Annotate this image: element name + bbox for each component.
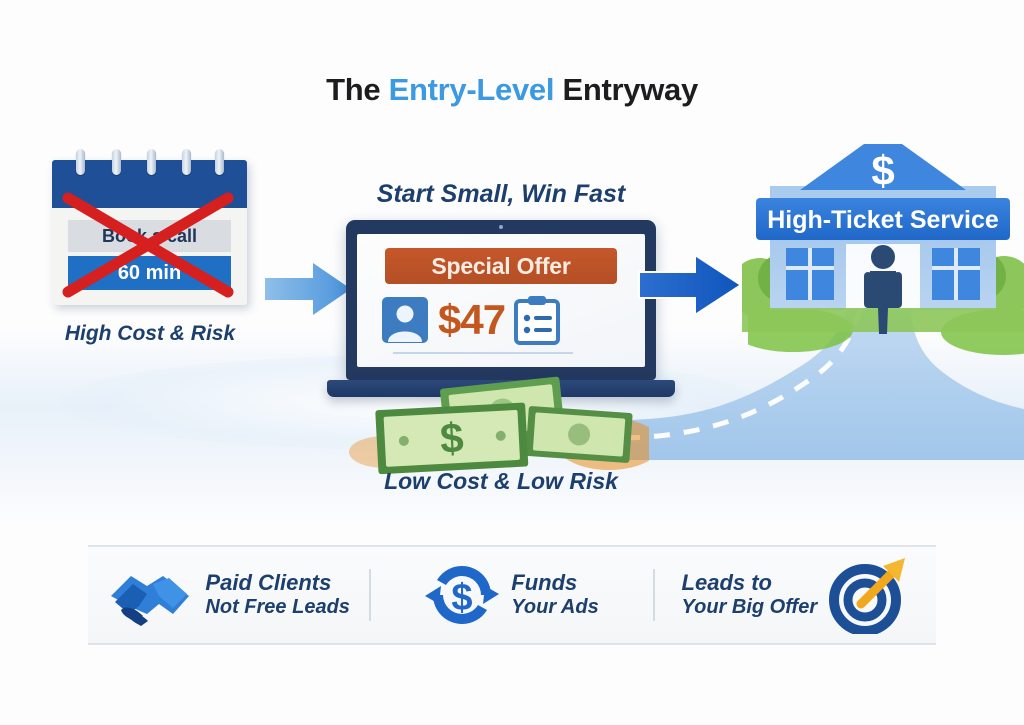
center-heading: Start Small, Win Fast (336, 180, 666, 209)
high-ticket-building: $ High-Ticket Service (742, 138, 1024, 363)
handshake-icon (107, 562, 193, 628)
building-group: $ High-Ticket Service (742, 138, 1024, 363)
benefit-line-1: Leads to (682, 570, 818, 596)
cash-bills-icon: $ (349, 372, 649, 482)
calendar-ring (215, 149, 224, 175)
benefit-text: Funds Your Ads (511, 570, 598, 620)
person-avatar-icon (381, 296, 429, 344)
dollar-symbol: $ (871, 147, 894, 194)
screen-divider (393, 352, 573, 354)
laptop-lid: Special Offer $47 (346, 220, 656, 380)
benefit-line-1: Paid Clients (205, 570, 349, 596)
calendar-ring (112, 149, 121, 175)
title-part-1: The (326, 72, 389, 107)
benefit-line-2: Not Free Leads (205, 596, 349, 620)
benefit-line-1: Funds (511, 570, 598, 596)
target-arrow-icon (827, 556, 909, 634)
calendar-ring (76, 149, 85, 175)
laptop-camera-icon (499, 225, 503, 229)
building-sign-label: High-Ticket Service (767, 206, 999, 234)
benefit-item-paid-clients[interactable]: Paid Clients Not Free Leads (88, 547, 369, 643)
special-offer-badge: Special Offer (385, 248, 617, 284)
calendar-ring (147, 149, 156, 175)
left-caption: High Cost & Risk (40, 322, 260, 346)
arrow-center-to-right (637, 250, 747, 320)
offer-row: $47 (381, 292, 625, 348)
offer-price: $47 (438, 299, 505, 341)
title-part-2: Entryway (554, 72, 698, 107)
bottom-benefits-bar: Paid Clients Not Free Leads $ Funds Your… (88, 545, 936, 645)
calendar-group: Book a call 60 min High Cost & Risk (52, 160, 257, 305)
title-accent: Entry-Level (389, 72, 555, 107)
clipboard-checklist-icon (514, 295, 560, 345)
circular-arrows-dollar-icon: $ (425, 560, 499, 630)
infographic-canvas: The Entry-Level Entryway Book a call 60 (0, 0, 1024, 725)
benefit-line-2: Your Big Offer (682, 596, 818, 620)
benefit-line-2: Your Ads (511, 596, 598, 620)
benefit-item-funds-your-ads[interactable]: $ Funds Your Ads (371, 547, 652, 643)
benefit-text: Paid Clients Not Free Leads (205, 570, 349, 620)
laptop-screen: Special Offer $47 (357, 234, 645, 367)
calendar-card: Book a call 60 min (52, 160, 247, 305)
red-cross-out-icon (58, 190, 240, 300)
calendar-ring (182, 149, 191, 175)
page-title: The Entry-Level Entryway (0, 72, 1024, 108)
center-caption: Low Cost & Low Risk (326, 468, 676, 495)
benefit-text: Leads to Your Big Offer (682, 570, 818, 620)
svg-text:$: $ (452, 577, 473, 619)
benefit-item-leads-to-big-offer[interactable]: Leads to Your Big Offer (655, 547, 936, 643)
svg-text:$: $ (439, 414, 465, 462)
arrow-left-to-center (263, 258, 355, 320)
